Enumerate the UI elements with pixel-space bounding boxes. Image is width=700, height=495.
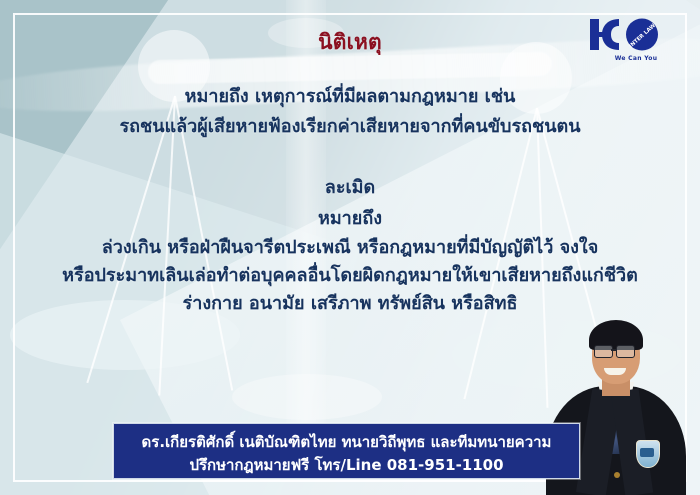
section-one-example: รถชนแล้วผู้เสียหายฟ้องเรียกค่าเสียหายจาก… — [0, 111, 700, 140]
portrait-smile — [604, 368, 626, 375]
section-two-heading: ละเมิด — [0, 172, 700, 201]
shield-badge-inner — [640, 448, 654, 457]
footer-banner: ดร.เกียรติศักดิ์ เนติบัณฑิตไทย ทนายวิถีพ… — [113, 423, 580, 479]
logo-mark-icon: INTER LAW — [586, 14, 686, 56]
footer-name-line: ดร.เกียรติศักดิ์ เนติบัณฑิตไทย ทนายวิถีพ… — [114, 430, 579, 454]
glasses-left-lens-icon — [594, 345, 613, 358]
section-two-body-line-2: หรือประมาทเลินเล่อทำต่อบุคคลอื่นโดยผิดกฎ… — [0, 260, 700, 289]
shield-badge-icon — [636, 440, 660, 468]
portrait-suit-button — [614, 472, 620, 478]
ico-inter-law-logo: INTER LAW We Can You — [586, 14, 686, 66]
glasses-bridge-icon — [611, 349, 616, 351]
poster-canvas: นิติเหตุ หมายถึง เหตุการณ์ที่มีผลตามกฎหม… — [0, 0, 700, 495]
footer-contact-line: ปรึกษากฎหมายฟรี โทร/Line 081-951-1100 — [114, 453, 579, 477]
section-two-body-line-1: ล่วงเกิน หรือฝ่าฝืนจารีตประเพณี หรือกฎหม… — [0, 232, 700, 261]
section-one-definition: หมายถึง เหตุการณ์ที่มีผลตามกฎหมาย เช่น — [0, 81, 700, 110]
glasses-right-lens-icon — [616, 345, 635, 358]
logo-tagline: We Can You — [586, 55, 686, 62]
section-two-definition-label: หมายถึง — [0, 203, 700, 232]
